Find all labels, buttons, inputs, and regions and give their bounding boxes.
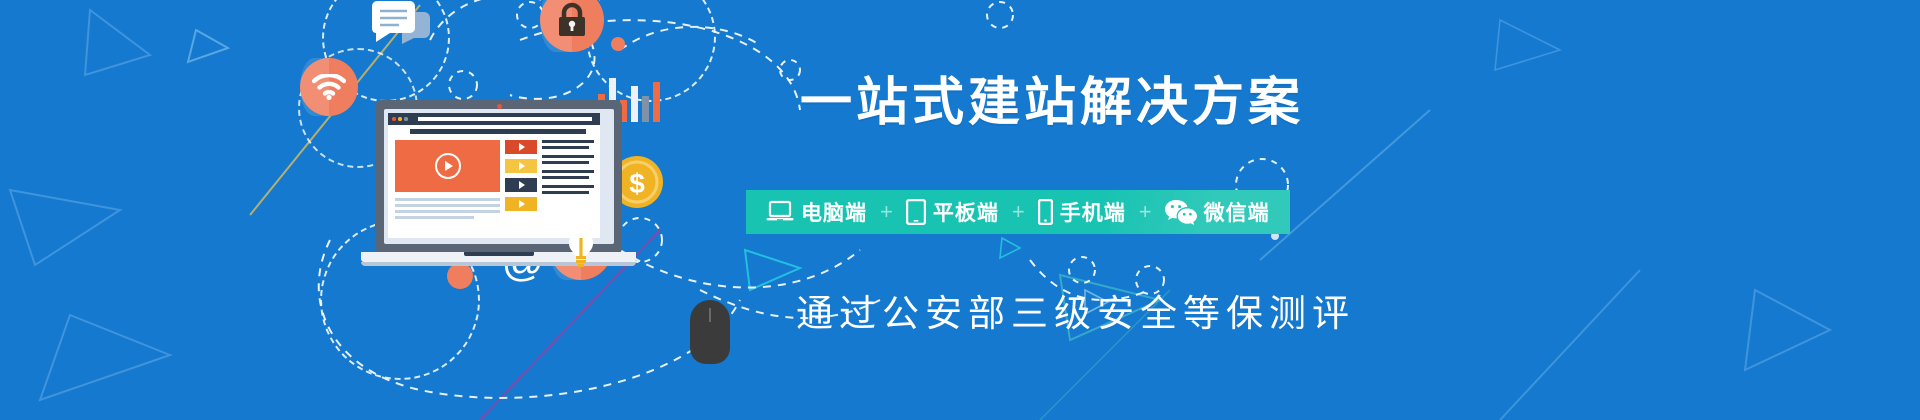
laptop-mockup [375, 100, 635, 270]
thumbnail-3 [505, 178, 537, 192]
play-triangle [445, 161, 453, 171]
list-item [542, 155, 594, 164]
page-content [388, 134, 600, 222]
page-main-column [395, 140, 500, 222]
laptop-screen-bezel [384, 109, 614, 244]
thumbnail-1 [505, 140, 537, 154]
video-hero [395, 140, 500, 192]
device-label-desktop: 电脑端 [801, 197, 867, 227]
device-item-wechat: 微信端 [1165, 197, 1270, 227]
phone-icon [1038, 199, 1053, 225]
laptop-screen [388, 113, 600, 238]
thumbnail-4 [505, 197, 537, 211]
device-label-phone: 手机端 [1060, 197, 1126, 227]
device-item-tablet: 平板端 [906, 197, 999, 227]
promo-banner: $ @ [0, 0, 1920, 420]
list-item [542, 140, 594, 149]
device-support-badge: 电脑端 + 平板端 + 手机端 + [746, 190, 1290, 234]
device-label-wechat: 微信端 [1204, 197, 1270, 227]
thumbnail-2 [505, 159, 537, 173]
paragraph-lines [395, 198, 500, 219]
device-item-phone: 手机端 [1038, 197, 1126, 227]
list-item [542, 185, 594, 194]
browser-chrome [388, 113, 600, 125]
thumbnail-column [505, 140, 537, 222]
separator-plus: + [1139, 199, 1152, 225]
device-label-tablet: 平板端 [933, 197, 999, 227]
laptop-icon [766, 200, 794, 224]
browser-dot-red [392, 117, 396, 121]
page-title: 一站式建站解决方案 [800, 60, 1304, 135]
banner-content: 一站式建站解决方案 电脑端 + 平板端 + [780, 0, 1640, 420]
separator-plus: + [880, 199, 893, 225]
chat-icon [368, 0, 440, 56]
list-item [542, 170, 594, 179]
separator-plus: + [1012, 199, 1025, 225]
laptop-camera-dot [497, 104, 502, 109]
mouse-icon [690, 300, 730, 364]
wechat-icon [1165, 199, 1197, 225]
mouse-body [690, 300, 730, 364]
browser-dot-grey [404, 117, 408, 121]
wifi-icon [300, 58, 358, 116]
banner-subtitle: 通过公安部三级安全等保测评 [796, 283, 1355, 337]
tablet-icon [906, 199, 926, 225]
hero-illustration: $ @ [300, 0, 760, 420]
play-icon [435, 153, 461, 179]
browser-address-bar [418, 117, 592, 121]
list-text-column [542, 140, 594, 222]
device-item-desktop: 电脑端 [766, 197, 867, 227]
browser-dot-yellow [398, 117, 402, 121]
